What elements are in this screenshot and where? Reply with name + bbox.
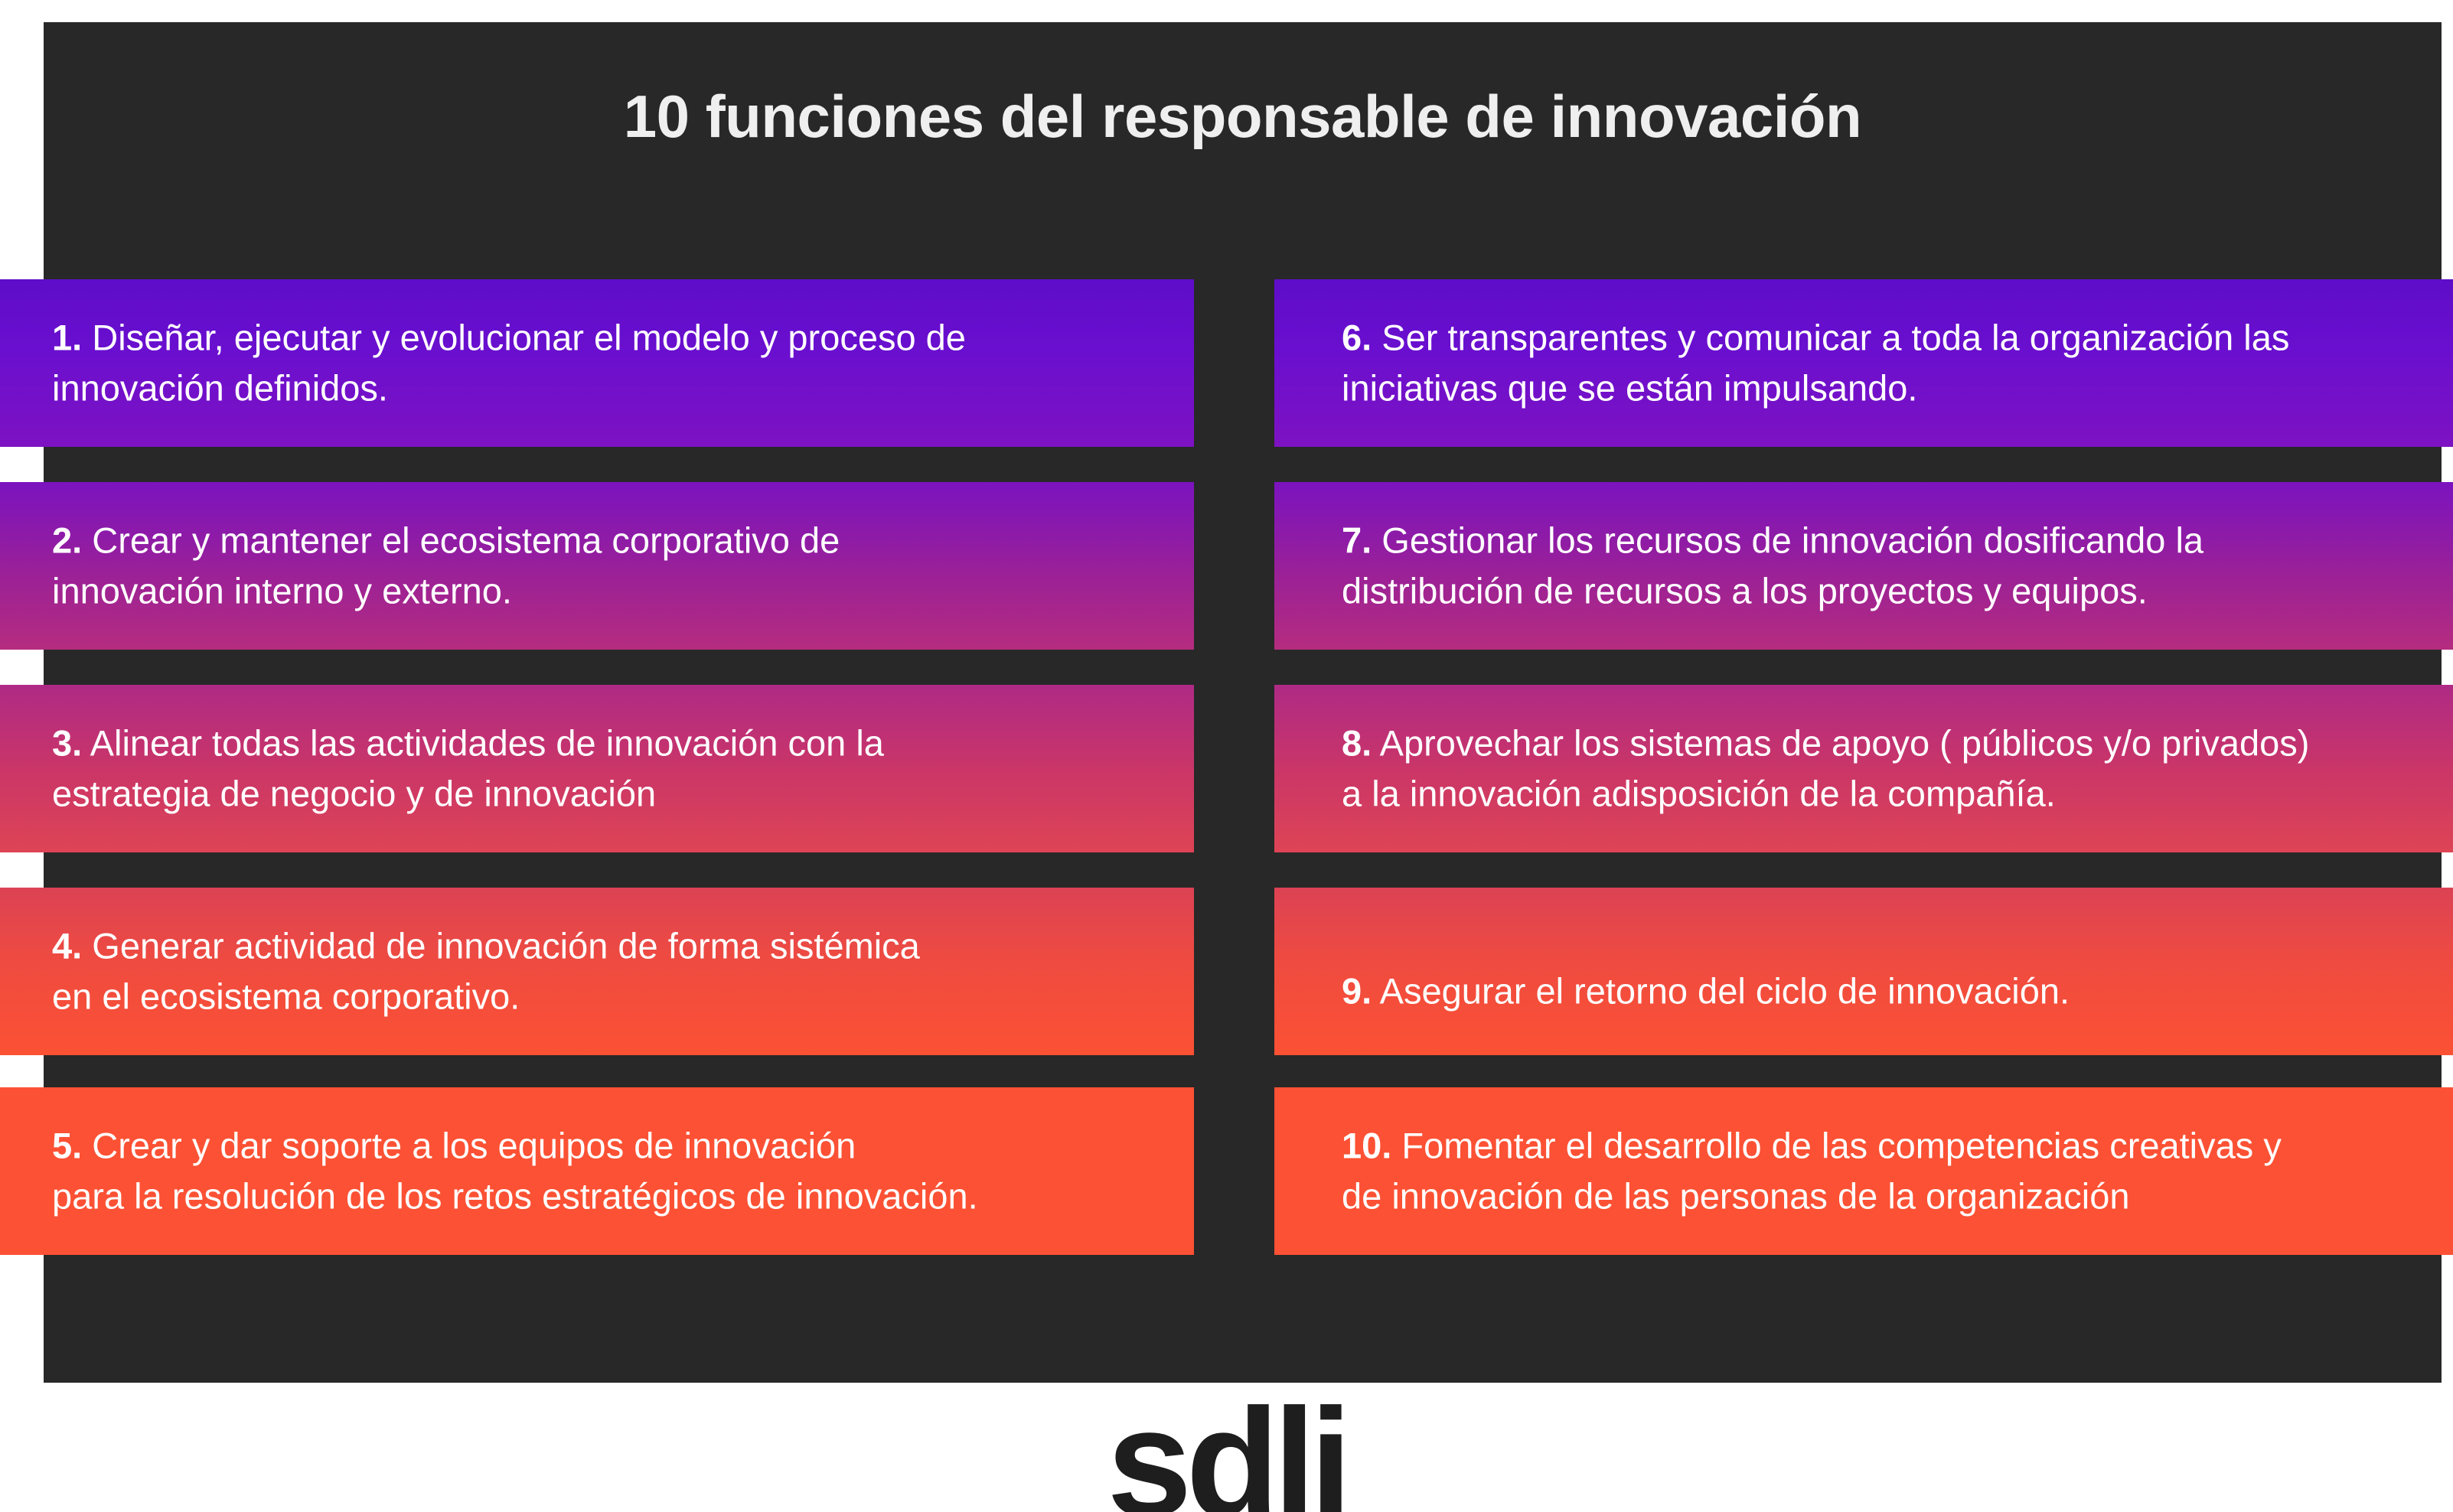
function-card-4: 4. Generar actividad de innovación de fo…	[0, 888, 1194, 1055]
function-card-4-number: 4.	[52, 925, 82, 966]
function-card-8-text: 8. Aprovechar los sistemas de apoyo ( pú…	[1342, 718, 2453, 820]
function-card-5-number: 5.	[52, 1125, 82, 1165]
function-card-7-line-1: Gestionar los recursos de innovación dos…	[1381, 520, 2203, 560]
function-card-9: 9. Asegurar el retorno del ciclo de inno…	[1274, 888, 2453, 1055]
function-card-5: 5. Crear y dar soporte a los equipos de …	[0, 1087, 1194, 1255]
function-card-2-line-2: innovación interno y externo.	[52, 566, 1194, 618]
right-card-column: 6. Ser transparentes y comunicar a toda …	[1274, 0, 2453, 1512]
function-card-9-text: 9. Asegurar el retorno del ciclo de inno…	[1342, 966, 2453, 1017]
function-card-6-number: 6.	[1342, 317, 1372, 357]
function-card-7-number: 7.	[1342, 520, 1372, 560]
function-card-5-line-2: para la resolución de los retos estratég…	[52, 1171, 1194, 1223]
infographic-canvas: 10 funciones del responsable de innovaci…	[0, 0, 2453, 1512]
footer-logo-area: sdli	[0, 1393, 2453, 1512]
function-card-7-line-2: distribución de recursos a los proyectos…	[1342, 566, 2453, 618]
function-card-10-line-2: de innovación de las personas de la orga…	[1342, 1171, 2453, 1223]
function-card-1-text: 1. Diseñar, ejecutar y evolucionar el mo…	[52, 312, 1194, 414]
sdli-logo: sdli	[1107, 1393, 1346, 1512]
function-card-7: 7. Gestionar los recursos de innovación …	[1274, 482, 2453, 650]
function-card-8-number: 8.	[1342, 722, 1372, 763]
function-card-9-line-1: Asegurar el retorno del ciclo de innovac…	[1380, 970, 2070, 1011]
function-card-5-text: 5. Crear y dar soporte a los equipos de …	[52, 1120, 1194, 1222]
function-card-3-line-2: estrategia de negocio y de innovación	[52, 769, 1194, 820]
function-card-7-text: 7. Gestionar los recursos de innovación …	[1342, 515, 2453, 617]
function-card-1-number: 1.	[52, 317, 82, 357]
function-card-2: 2. Crear y mantener el ecosistema corpor…	[0, 482, 1194, 650]
function-card-10-line-1: Fomentar el desarrollo de las competenci…	[1401, 1125, 2281, 1165]
function-card-3-text: 3. Alinear todas las actividades de inno…	[52, 718, 1194, 820]
function-card-10: 10. Fomentar el desarrollo de las compet…	[1274, 1087, 2453, 1255]
function-card-2-text: 2. Crear y mantener el ecosistema corpor…	[52, 515, 1194, 617]
function-card-2-number: 2.	[52, 520, 82, 560]
function-card-5-line-1: Crear y dar soporte a los equipos de inn…	[92, 1125, 856, 1165]
function-card-8: 8. Aprovechar los sistemas de apoyo ( pú…	[1274, 685, 2453, 852]
function-card-8-line-1: Aprovechar los sistemas de apoyo ( públi…	[1380, 722, 2310, 763]
function-card-1-line-2: innovación definidos.	[52, 363, 1194, 415]
function-card-1: 1. Diseñar, ejecutar y evolucionar el mo…	[0, 279, 1194, 447]
function-card-4-text: 4. Generar actividad de innovación de fo…	[52, 921, 1194, 1022]
left-card-column: 1. Diseñar, ejecutar y evolucionar el mo…	[0, 0, 1194, 1512]
function-card-4-line-2: en el ecosistema corporativo.	[52, 972, 1194, 1023]
function-card-3: 3. Alinear todas las actividades de inno…	[0, 685, 1194, 852]
function-card-9-number: 9.	[1342, 970, 1372, 1011]
function-card-8-line-2: a la innovación adisposición de la compa…	[1342, 769, 2453, 820]
function-card-3-number: 3.	[52, 722, 82, 763]
function-card-6: 6. Ser transparentes y comunicar a toda …	[1274, 279, 2453, 447]
function-card-4-line-1: Generar actividad de innovación de forma…	[92, 925, 920, 966]
function-card-2-line-1: Crear y mantener el ecosistema corporati…	[92, 520, 840, 560]
function-card-6-text: 6. Ser transparentes y comunicar a toda …	[1342, 312, 2453, 414]
function-card-10-number: 10.	[1342, 1125, 1391, 1165]
function-card-6-line-2: iniciativas que se están impulsando.	[1342, 363, 2453, 415]
function-card-1-line-1: Diseñar, ejecutar y evolucionar el model…	[92, 317, 966, 357]
function-card-6-line-1: Ser transparentes y comunicar a toda la …	[1381, 317, 2289, 357]
function-card-3-line-1: Alinear todas las actividades de innovac…	[90, 722, 884, 763]
function-card-10-text: 10. Fomentar el desarrollo de las compet…	[1342, 1120, 2453, 1222]
